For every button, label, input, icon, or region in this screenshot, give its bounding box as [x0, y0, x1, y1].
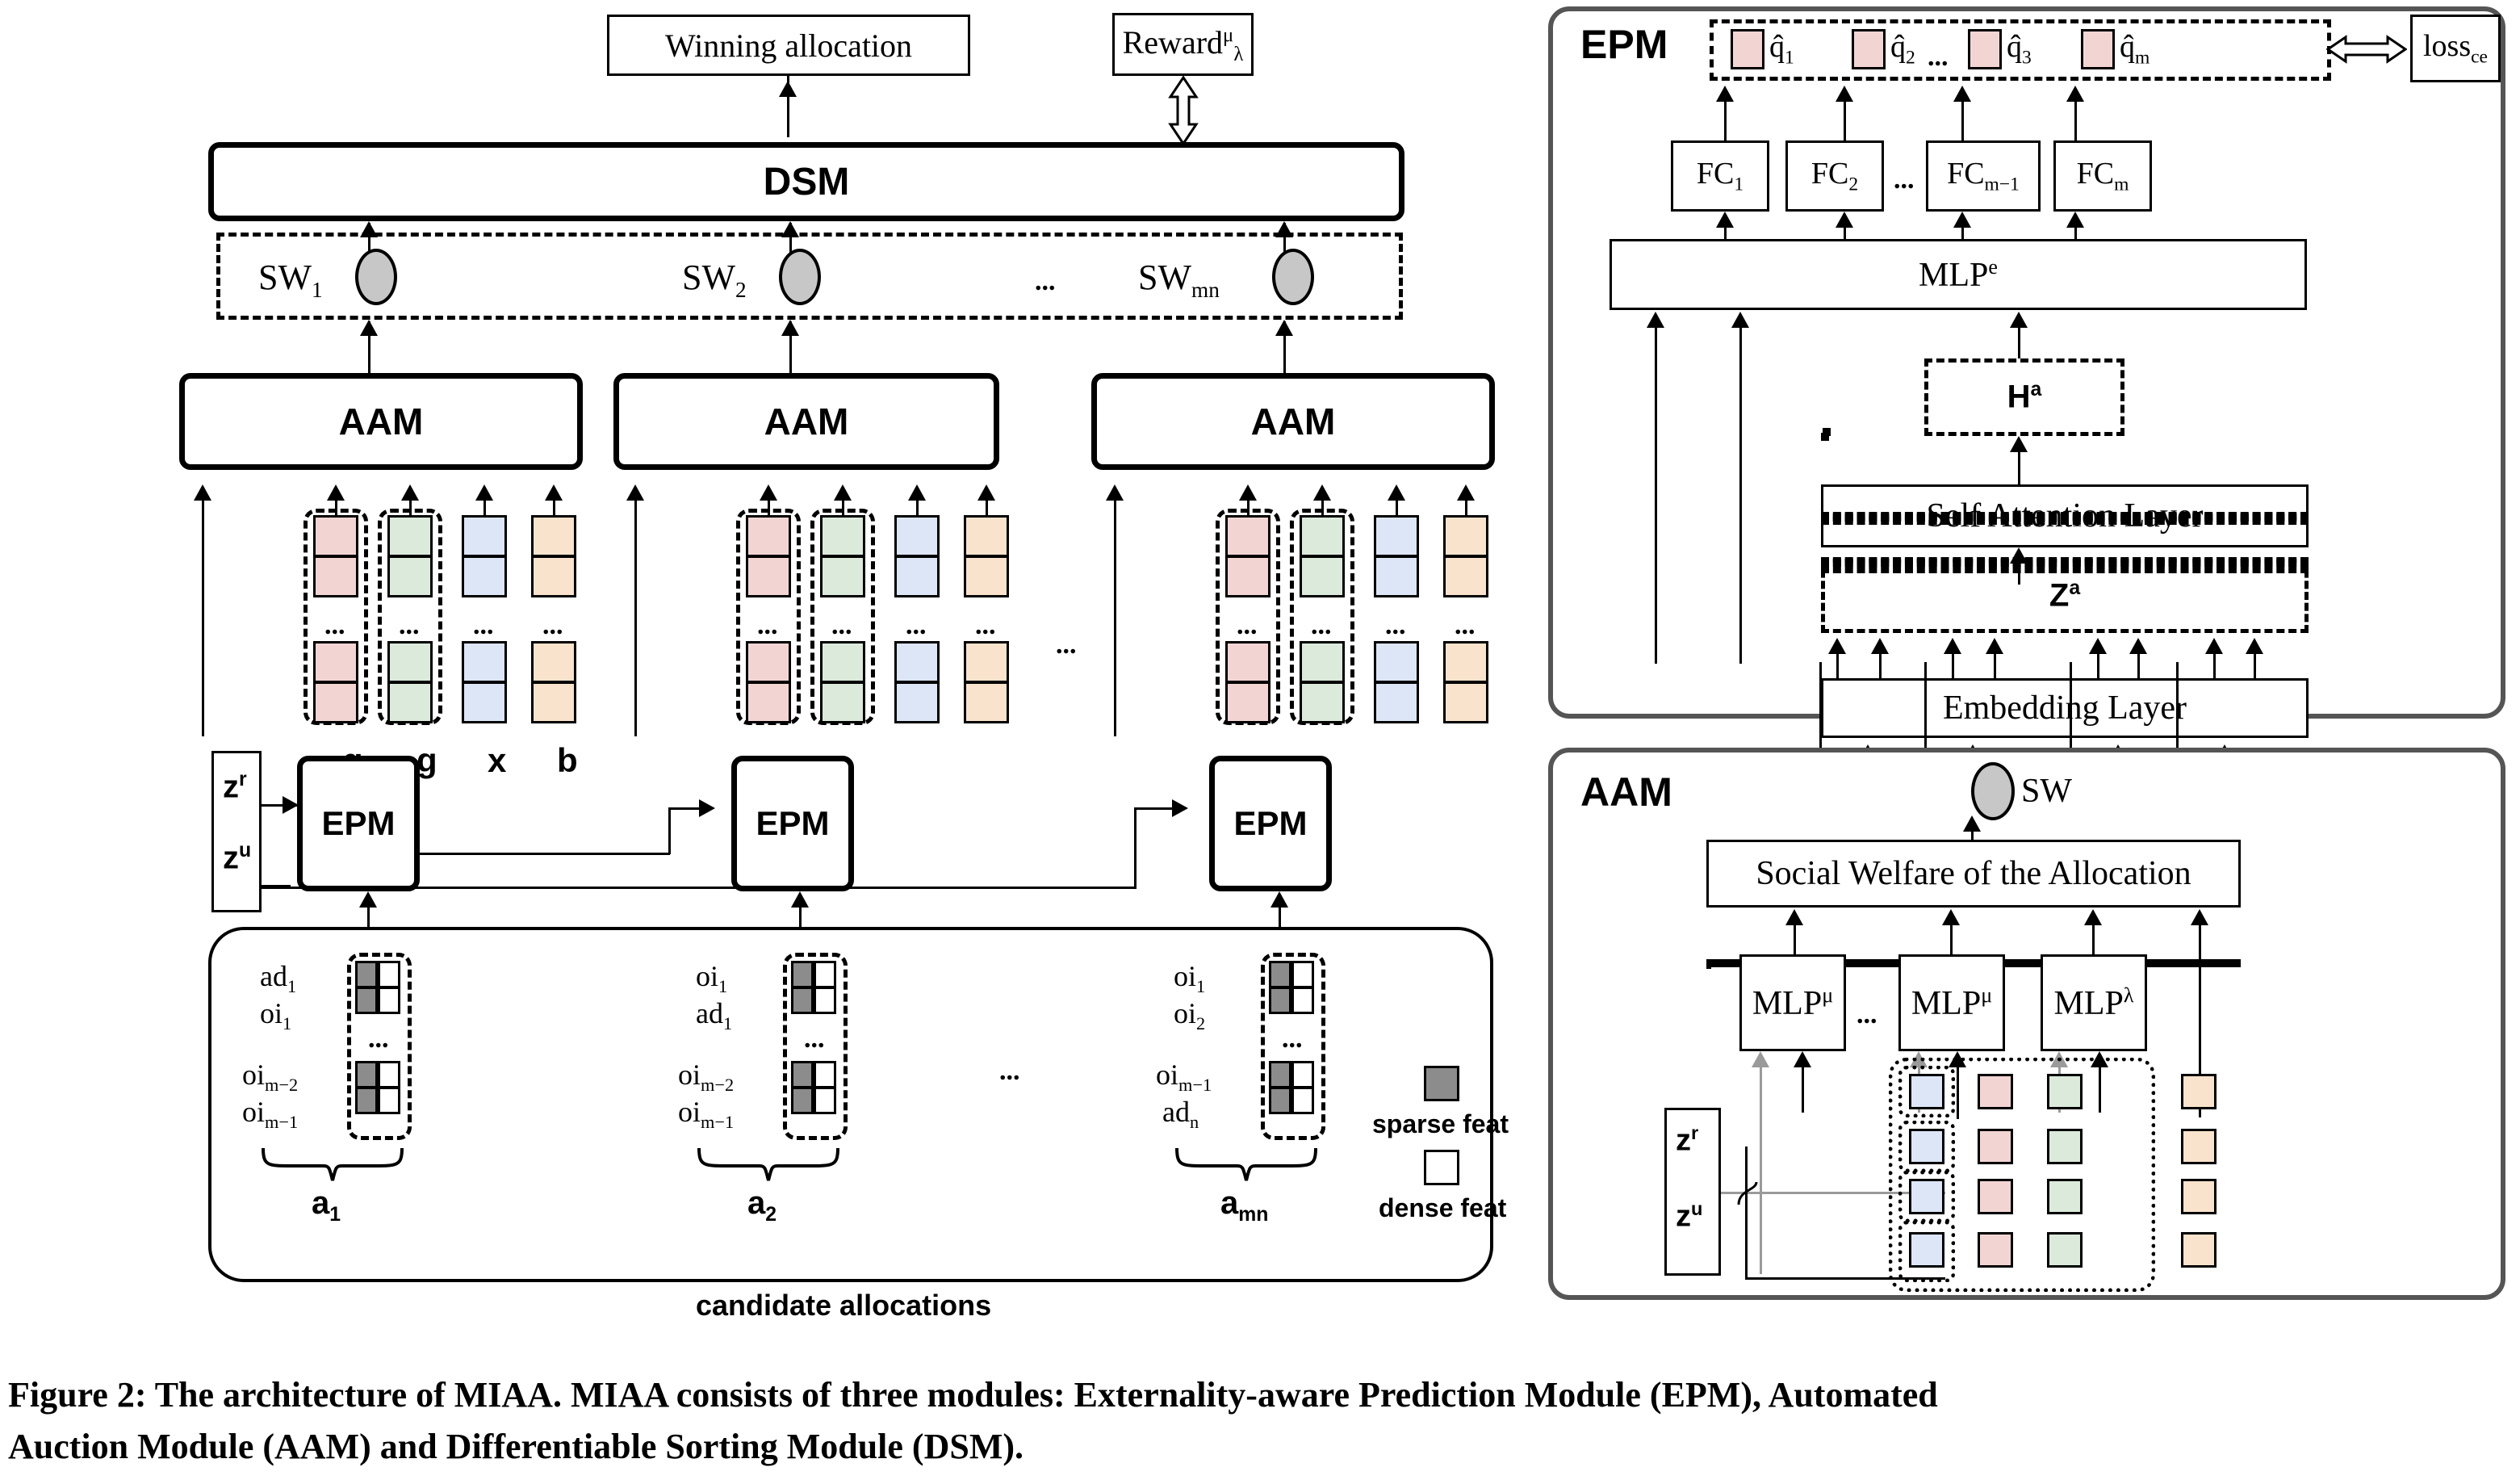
sw-item-2-label: SW2: [682, 257, 747, 303]
figure-caption: Figure 2: The architecture of MIAA. MIAA…: [8, 1369, 2510, 1473]
b-cell-2-bot-b: [964, 681, 1009, 723]
aam-mlp-box-2: MLPμ: [1898, 954, 2005, 1051]
aam-green-cell-4: [2047, 1232, 2083, 1268]
epm-box-1: EPM: [297, 756, 420, 891]
aam-z-black-riser: [1745, 1147, 1748, 1279]
alloc3-brace-label: amn: [1220, 1185, 1268, 1226]
aam-box-1: AAM: [179, 373, 583, 470]
x-cell-1-top-a: [462, 515, 507, 557]
sa-to-ha-line: [2018, 449, 2020, 484]
alloc2-dense-2: [814, 1061, 836, 1088]
aam-zr-label: zr: [1676, 1122, 1698, 1159]
alloc3-label-1: oi2: [1174, 996, 1205, 1034]
aam-blue-cell-2: [1909, 1129, 1944, 1164]
dsm-box: DSM: [208, 142, 1404, 221]
aam1-to-sw1-arrow: [360, 320, 378, 336]
aam-gray-arrow-line-1: [1760, 1064, 1762, 1274]
sw-item-mn-label: SWmn: [1138, 257, 1220, 303]
g-col-2-ellipsis: ...: [831, 612, 852, 639]
alloc2-sparse-0: [791, 961, 814, 988]
g-cell-3-top-a: [1300, 515, 1345, 557]
alloc3-label-0: oi1: [1174, 959, 1205, 997]
b-cell-1-top-b: [531, 555, 576, 597]
legend-sparse-swatch: [1424, 1066, 1459, 1101]
mlp3-to-welfare-arrow: [2084, 909, 2102, 925]
alloc3-to-epm3-arrow: [1270, 891, 1288, 908]
q-cell-1-top-a: [313, 515, 358, 557]
alloc2-brace-label: a2: [747, 1185, 777, 1226]
alloc2-label-3: oim−1: [678, 1095, 734, 1133]
g-cell-3-bot-a: [1300, 641, 1345, 683]
emb-to-za-arrow-4: [1986, 638, 2003, 654]
alloc2-to-epm2-arrow: [791, 891, 809, 908]
aam-orange-cell-1: [2181, 1074, 2217, 1109]
alloc2-sparse-1: [791, 987, 814, 1014]
q-2-up-arrow: [760, 484, 777, 501]
g-cell-1-top-a: [387, 515, 433, 557]
reward-label: Rewardμλ: [1123, 23, 1244, 66]
q-col-1-ellipsis: ...: [324, 612, 345, 639]
alloc1-to-epm1-arrow: [359, 891, 377, 908]
winning-allocation-arrow-head: [779, 81, 797, 97]
aam-line-hop-icon: [1735, 1179, 1764, 1208]
emb-to-za-arrow-7: [2205, 638, 2223, 654]
epm-za-group: Za: [1821, 559, 2309, 633]
alloc2-sparse-2: [791, 1061, 814, 1088]
candidate-allocations-label: candidate allocations: [696, 1289, 991, 1323]
epm-mlpe-box: MLPe: [1610, 239, 2307, 310]
x-cell-3-top-b: [1374, 555, 1419, 597]
zr-label-main: zr: [223, 769, 247, 805]
mlp2-to-welfare-line: [1950, 924, 1953, 954]
epm-mlpe-label: MLPe: [1919, 255, 1998, 295]
ha-to-mlpe-line: [2018, 325, 2020, 358]
q-cell-2-top-b: [746, 555, 791, 597]
ha-to-mlpe-arrow: [2010, 312, 2028, 328]
b-3-up-arrow: [1457, 484, 1475, 501]
alloc2-grid-ellipsis: ...: [804, 1025, 825, 1053]
epm-box-1-label: EPM: [321, 804, 395, 843]
feature-group-2: ... ... ... ...: [578, 470, 1030, 736]
sw-item-1-label: SW1: [258, 257, 323, 303]
x-cell-1-bot-a: [462, 641, 507, 683]
epm-za-label: Za: [2049, 577, 2080, 614]
alloc1-dense-3: [378, 1087, 400, 1114]
aam-mlp-ellipsis: ...: [1857, 1001, 1877, 1029]
mlpe-to-fc1-arrow: [1716, 212, 1734, 228]
fc2-to-qhat2-arrow: [1836, 86, 1853, 102]
b-cell-2-bot-a: [964, 641, 1009, 683]
fc3-to-qhat3-arrow: [1953, 86, 1971, 102]
aam-sw-circle: [1971, 762, 2015, 820]
q-cell-3-top-a: [1225, 515, 1270, 557]
epm-fc-label-m1: FCm−1: [1947, 156, 2020, 196]
epm-fc-ellipsis: ...: [1894, 166, 1915, 194]
emb-to-za-arrow-2: [1871, 638, 1889, 654]
aam-mlp-box-1: MLPμ: [1739, 954, 1846, 1051]
aam-black-arrow-head-1: [1794, 1051, 1811, 1067]
epm-qhat-cell-3: [1968, 29, 2002, 69]
epm-embedding-layer-label: Embedding Layer: [1943, 689, 2187, 727]
fc1-to-qhat1-arrow: [1716, 86, 1734, 102]
x-cell-3-top-a: [1374, 515, 1419, 557]
aam-mlp-label-2: MLPμ: [1911, 983, 1992, 1023]
g-cell-2-top-b: [820, 555, 865, 597]
g-cell-3-top-b: [1300, 555, 1345, 597]
aam-blue-cell-1: [1909, 1074, 1944, 1109]
x-1-up-arrow: [475, 484, 493, 501]
x-cell-1-bot-b: [462, 681, 507, 723]
epm3-to-aam3-line: [1114, 488, 1116, 736]
b-col-3-ellipsis: ...: [1455, 612, 1476, 639]
aam-gray-arrow-head-1: [1752, 1051, 1769, 1067]
alloc1-label-2: oim−2: [242, 1058, 298, 1096]
b-2-up-arrow: [977, 484, 995, 501]
sw-item-mn-circle: [1272, 249, 1314, 305]
aam-panel-title: AAM: [1580, 769, 1672, 815]
epm-za-final: [1821, 433, 1829, 441]
z-to-epm1-arrow: [283, 796, 299, 814]
x-col-1-ellipsis: ...: [473, 612, 494, 639]
q-cell-1-top-b: [313, 555, 358, 597]
alloc1-label-1: oi1: [260, 996, 291, 1034]
b-cell-3-bot-b: [1443, 681, 1488, 723]
epm-fc-box-m1: FCm−1: [1926, 140, 2041, 212]
aam-blue-cell-3: [1909, 1179, 1944, 1214]
aam-green-cell-1: [2047, 1074, 2083, 1109]
alloc3-dense-1: [1291, 987, 1314, 1014]
epm-box-2-label: EPM: [756, 804, 829, 843]
q-cell-1-bot-b: [313, 681, 358, 723]
epm3-to-aam3-arrow: [1106, 484, 1124, 501]
epm-ha-label: Ha: [2007, 379, 2042, 415]
epm1-out-riser: [668, 807, 671, 854]
alloc3-sparse-0: [1269, 961, 1291, 988]
g-cell-1-bot-a: [387, 641, 433, 683]
legend: sparse feat dense feat: [1372, 1066, 1566, 1243]
alloc3-sparse-1: [1269, 987, 1291, 1014]
mlpe-to-fc2-arrow: [1836, 212, 1853, 228]
alloc3-grid-ellipsis: ...: [1282, 1025, 1303, 1053]
epm1-out-line: [420, 853, 670, 855]
zu-to-mlpe-arrow: [1647, 312, 1664, 328]
epm-loss-label: lossce: [2423, 28, 2488, 69]
b-cell-2-top-b: [964, 555, 1009, 597]
b-cell-3-top-a: [1443, 515, 1488, 557]
epm-qhat-label-3: q̂3: [2007, 29, 2032, 69]
sw-item-1-circle: [355, 249, 397, 305]
mlp2-to-welfare-arrow: [1942, 909, 1960, 925]
aam-box-2: AAM: [613, 373, 999, 470]
emb-to-za-arrow-1: [1828, 638, 1846, 654]
g-1-up-arrow: [401, 484, 419, 501]
alloc1-dense-0: [378, 961, 400, 988]
winning-allocation-label: Winning allocation: [665, 27, 912, 65]
epm-fc-box-m: FCm: [2053, 140, 2152, 212]
alloc2-dense-1: [814, 987, 836, 1014]
alloc2-dense-3: [814, 1087, 836, 1114]
x-cell-2-bot-a: [894, 641, 940, 683]
g-col-3-ellipsis: ...: [1311, 612, 1332, 639]
epm-fc-label-m: FCm: [2077, 156, 2129, 196]
epm1-to-aam1-arrow: [194, 484, 211, 501]
q-cell-3-bot-a: [1225, 641, 1270, 683]
figure-caption-line-1: Figure 2: The architecture of MIAA. MIAA…: [8, 1369, 2510, 1421]
b-cell-1-top-a: [531, 515, 576, 557]
sw-row-ellipsis: ...: [1035, 268, 1056, 296]
b-cell-1-bot-a: [531, 641, 576, 683]
winning-allocation-box: Winning allocation: [607, 15, 970, 76]
aam-zu-label: zu: [1676, 1198, 1702, 1235]
reward-box: Rewardμλ: [1112, 13, 1254, 76]
x-cell-3-bot-b: [1374, 681, 1419, 723]
feature-group-1: ... ... ... ...: [145, 470, 597, 736]
emb-to-za-arrow-5: [2089, 638, 2107, 654]
epm-fc-box-2: FC2: [1785, 140, 1884, 212]
g-cell-2-bot-b: [820, 681, 865, 723]
b-col-1-ellipsis: ...: [542, 612, 563, 639]
x-cell-3-bot-a: [1374, 641, 1419, 683]
sw-item-2: SW2: [682, 242, 835, 310]
b-cell-2-top-a: [964, 515, 1009, 557]
aam3-to-swmn-arrow: [1275, 320, 1293, 336]
q-cell-2-bot-a: [746, 641, 791, 683]
aam-box-3: AAM: [1091, 373, 1495, 470]
b-1-up-arrow: [545, 484, 563, 501]
alloc1-label-3: oim−1: [242, 1095, 298, 1133]
epm2-out-riser: [1134, 807, 1137, 888]
aam-green-cell-2: [2047, 1129, 2083, 1164]
zu-label-main: zu: [223, 840, 251, 876]
alloc2-sparse-3: [791, 1087, 814, 1114]
alloc3-dense-0: [1291, 961, 1314, 988]
epm-qhat-cell-2: [1852, 29, 1886, 69]
alloc3-dense-3: [1291, 1087, 1314, 1114]
epm-fc-label-1: FC1: [1697, 156, 1743, 196]
epm-loss-double-arrow-icon: [2326, 31, 2407, 68]
epm-fc-label-2: FC2: [1811, 156, 1858, 196]
aam-mlp-label-3: MLPλ: [2054, 983, 2134, 1023]
q-cell-1-bot-a: [313, 641, 358, 683]
alloc1-label-0: ad1: [260, 959, 296, 997]
epm2-to-epm3-arrow: [1172, 799, 1188, 817]
alloc3-dense-2: [1291, 1061, 1314, 1088]
zr-to-mlpe-line: [1739, 325, 1742, 664]
mlp3-to-welfare-line: [2092, 924, 2095, 954]
mlpe-to-fc3-arrow: [1953, 212, 1971, 228]
allocation-column-1: ad1 oi1 oim−2 oim−1 ... a1: [242, 943, 517, 1266]
alloc3-label-2: oim−1: [1156, 1058, 1212, 1096]
epm2-out-line: [854, 887, 1137, 889]
mlp1-to-welfare-arrow: [1785, 909, 1803, 925]
x-2-up-arrow: [908, 484, 926, 501]
g-cell-1-bot-b: [387, 681, 433, 723]
b-cell-1-bot-b: [531, 681, 576, 723]
alloc1-grid-ellipsis: ...: [368, 1025, 389, 1053]
q-3-up-arrow: [1239, 484, 1257, 501]
aam-pink-cell-4: [1978, 1232, 2013, 1268]
alloc2-label-0: oi1: [696, 959, 727, 997]
g-cell-2-bot-a: [820, 641, 865, 683]
g-2-up-arrow: [834, 484, 852, 501]
epm-qhat-cell-1: [1731, 29, 1764, 69]
figure-caption-line-2: Auction Module (AAM) and Differentiable …: [8, 1421, 2510, 1473]
aam-orange-cell-2: [2181, 1129, 2217, 1164]
feature-label-b: b: [557, 741, 578, 780]
q-col-3-ellipsis: ...: [1237, 612, 1258, 639]
epm-qhat-label-m: q̂m: [2120, 29, 2150, 69]
g-cell-1-top-b: [387, 555, 433, 597]
aam2-to-sw2-arrow: [781, 320, 799, 336]
g-3-up-arrow: [1313, 484, 1331, 501]
aam-mlp-box-3: MLPλ: [2041, 954, 2147, 1051]
epm-qhat-cell-m: [2081, 29, 2115, 69]
epm-box-3-label: EPM: [1233, 804, 1307, 843]
aam-box-2-label: AAM: [764, 400, 849, 443]
b-col-2-ellipsis: ...: [975, 612, 996, 639]
sw-welfare-arrow: [1963, 815, 1981, 832]
aam-social-welfare-label: Social Welfare of the Allocation: [1756, 854, 2191, 893]
epm2-to-aam2-line: [634, 488, 637, 736]
x-cell-2-bot-b: [894, 681, 940, 723]
b-cell-3-bot-a: [1443, 641, 1488, 683]
alloc3-sparse-3: [1269, 1087, 1291, 1114]
epm-qhat-ellipsis: ...: [1928, 44, 1949, 71]
zu-to-mlpe-line: [1655, 325, 1657, 664]
aam-mlp-label-1: MLPμ: [1752, 983, 1833, 1023]
epm-za-boxed: [1821, 517, 2309, 525]
alloc2-dense-0: [814, 961, 836, 988]
mlpe-to-fcm-arrow: [2066, 212, 2084, 228]
q-cell-3-top-b: [1225, 555, 1270, 597]
q-cell-2-bot-b: [746, 681, 791, 723]
aam-box-1-label: AAM: [339, 400, 424, 443]
q-cell-2-top-a: [746, 515, 791, 557]
alloc1-dense-1: [378, 987, 400, 1014]
x-col-3-ellipsis: ...: [1385, 612, 1406, 639]
aam-sw-label: SW: [2021, 772, 2072, 811]
epm-embedding-layer-box: Embedding Layer: [1821, 678, 2309, 738]
alloc1-sparse-1: [355, 987, 378, 1014]
allocations-ellipsis: ...: [999, 1058, 1020, 1085]
x-cell-2-top-a: [894, 515, 940, 557]
epm1-to-epm2-arrow: [699, 799, 715, 817]
x-col-2-ellipsis: ...: [906, 612, 927, 639]
alloc1-sparse-2: [355, 1061, 378, 1088]
b-cell-3-top-b: [1443, 555, 1488, 597]
alloc3-brace-icon: [1174, 1147, 1319, 1182]
aam-orange-cell-3: [2181, 1179, 2217, 1214]
feature-group-3: ... ... ... ...: [1057, 470, 1509, 736]
alloc1-brace-label: a1: [312, 1185, 341, 1226]
aam-pink-cell-2: [1978, 1129, 2013, 1164]
epm-ha-box: Ha: [1924, 358, 2124, 436]
zr-to-mlpe-arrow: [1731, 312, 1749, 328]
alloc2-brace-icon: [696, 1147, 841, 1182]
x-3-up-arrow: [1388, 484, 1405, 501]
epm1-to-aam1-line: [202, 488, 204, 736]
legend-sparse-label: sparse feat: [1372, 1109, 1509, 1139]
epm-loss-box: lossce: [2410, 15, 2501, 82]
sw-item-2-circle: [779, 249, 821, 305]
epm-fc-box-1: FC1: [1671, 140, 1769, 212]
epm2-to-aam2-arrow: [626, 484, 644, 501]
legend-dense-label: dense feat: [1379, 1193, 1506, 1223]
alloc2-label-2: oim−2: [678, 1058, 734, 1096]
q-cell-3-bot-b: [1225, 681, 1270, 723]
legend-dense-swatch: [1424, 1150, 1459, 1185]
allocation-column-2: oi1 ad1 oim−2 oim−1 ... a2: [678, 943, 952, 1266]
g-col-1-ellipsis: ...: [399, 612, 420, 639]
emb-to-za-arrow-8: [2246, 638, 2263, 654]
sw-item-mn: SWmn: [1138, 242, 1324, 310]
aam-green-cell-3: [2047, 1179, 2083, 1214]
alloc3-sparse-2: [1269, 1061, 1291, 1088]
q-col-2-ellipsis: ...: [757, 612, 778, 639]
epm-panel-title: EPM: [1580, 21, 1668, 68]
g-cell-2-top-a: [820, 515, 865, 557]
alloc2-label-1: ad1: [696, 996, 732, 1034]
reward-double-arrow-icon: [1162, 76, 1204, 145]
dsm-label: DSM: [764, 160, 850, 204]
aam-black-arrow-line-1: [1802, 1064, 1804, 1113]
aam-pink-cell-3: [1978, 1179, 2013, 1214]
g-cell-3-bot-b: [1300, 681, 1345, 723]
q-1-up-arrow: [327, 484, 345, 501]
fcm-to-qhatm-arrow: [2066, 86, 2084, 102]
x-cell-1-top-b: [462, 555, 507, 597]
b-to-welfare-arrow: [2191, 909, 2208, 925]
aam-box-3-label: AAM: [1251, 400, 1336, 443]
alloc1-sparse-3: [355, 1087, 378, 1114]
emb-to-za-arrow-6: [2129, 638, 2147, 654]
aam-pink-cell-1: [1978, 1074, 2013, 1109]
sa-to-ha-arrow: [2010, 436, 2028, 452]
aam-blue-cell-4: [1909, 1232, 1944, 1268]
aam-orange-cell-4: [2181, 1232, 2217, 1268]
feature-label-x: x: [488, 741, 506, 780]
epm-box-3: EPM: [1209, 756, 1332, 891]
alloc3-label-3: adn: [1162, 1095, 1199, 1133]
epm-qhat-label-1: q̂1: [1769, 29, 1794, 69]
mlp1-to-welfare-line: [1794, 924, 1796, 954]
epm-box-2: EPM: [731, 756, 854, 891]
alloc1-brace-icon: [260, 1147, 405, 1182]
x-cell-2-top-b: [894, 555, 940, 597]
alloc1-sparse-0: [355, 961, 378, 988]
sw-item-1: SW1: [258, 242, 412, 310]
aam-social-welfare-container: Social Welfare of the Allocation: [1706, 840, 2241, 908]
emb-to-za-arrow-3: [1944, 638, 1961, 654]
alloc1-dense-2: [378, 1061, 400, 1088]
epm-qhat-label-2: q̂2: [1890, 29, 1915, 69]
